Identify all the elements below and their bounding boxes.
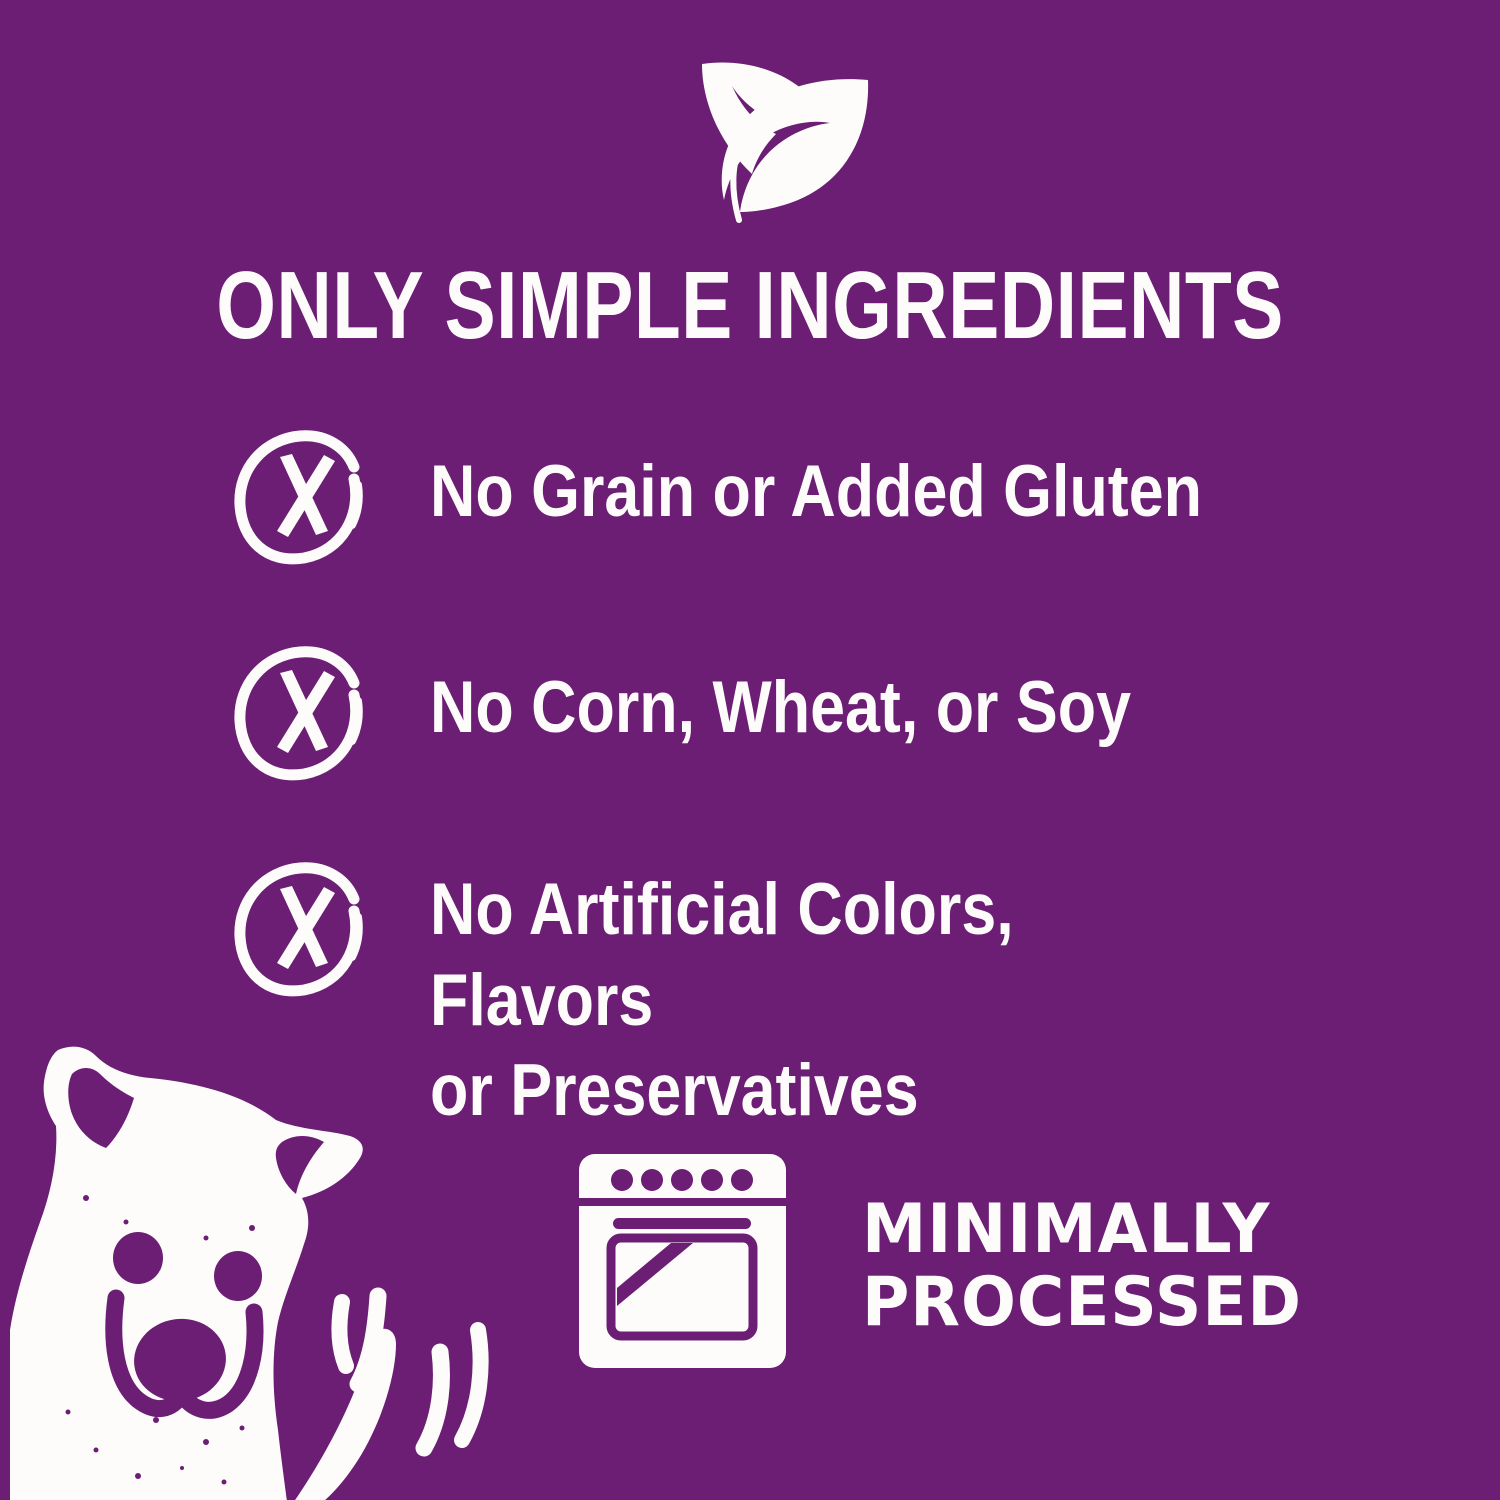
page-title: ONLY SIMPLE INGREDIENTS bbox=[150, 258, 1350, 354]
list-item: No Corn, Wheat, or Soy bbox=[232, 641, 1332, 783]
list-item-label: No Artificial Colors, Flavors or Preserv… bbox=[430, 857, 1206, 1137]
minimally-processed-badge: MINIMALLY PROCESSED bbox=[575, 1150, 1325, 1372]
x-circle-icon bbox=[232, 427, 372, 567]
leaf-icon bbox=[690, 52, 880, 227]
x-circle-icon bbox=[232, 859, 372, 999]
list-item: No Grain or Added Gluten bbox=[232, 425, 1332, 567]
ingredient-claims-panel: ONLY SIMPLE INGREDIENTS No Grain or Adde… bbox=[0, 0, 1500, 1500]
badge-label: MINIMALLY PROCESSED bbox=[862, 1183, 1302, 1340]
oven-icon bbox=[575, 1150, 790, 1372]
x-circle-icon bbox=[232, 643, 372, 783]
list-item-label: No Corn, Wheat, or Soy bbox=[430, 641, 1206, 754]
dog-illustration bbox=[10, 1030, 530, 1500]
list-item-label: No Grain or Added Gluten bbox=[430, 425, 1206, 538]
